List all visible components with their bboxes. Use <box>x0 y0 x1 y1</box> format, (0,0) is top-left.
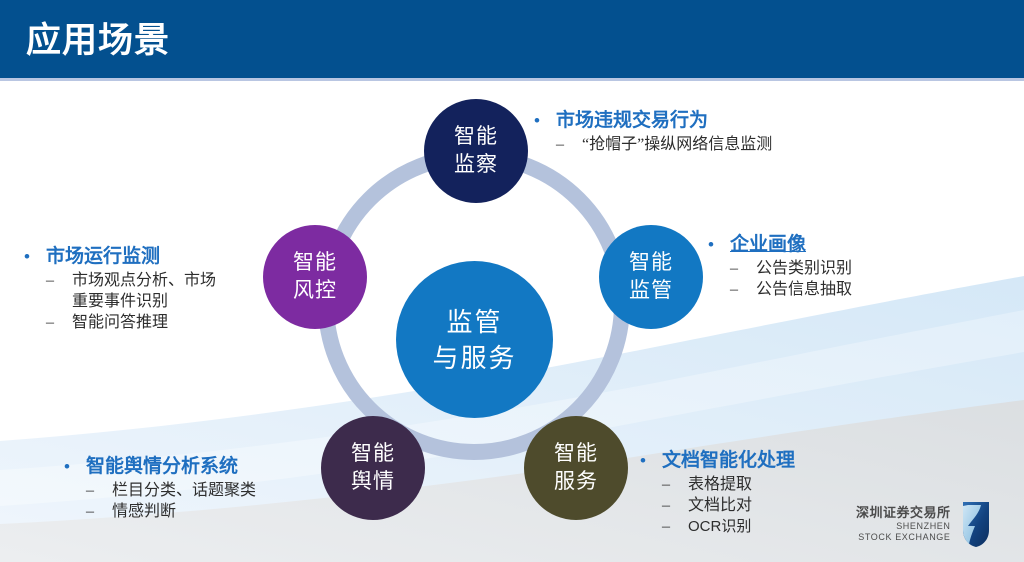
node-right-line-1: 智能 <box>629 249 673 277</box>
dash-icon: – <box>46 270 72 291</box>
callout-sub-list: – 表格提取 – 文档比对 – OCR识别 <box>640 474 795 537</box>
callout-sub-list: – “抢帽子”操纵网络信息监测 <box>534 134 772 155</box>
list-item: – 智能问答推理 <box>46 312 254 333</box>
list-item-text: 公告信息抽取 <box>756 279 852 300</box>
dash-icon: – <box>662 474 688 495</box>
node-bottom-left-line-2: 舆情 <box>351 468 395 496</box>
list-item: – 公告类别识别 <box>730 258 852 279</box>
center-node-line-2: 与服务 <box>432 340 516 376</box>
dash-icon: – <box>556 134 582 155</box>
list-item: – 表格提取 <box>662 474 795 495</box>
callout-heading: • 企业画像 <box>708 233 852 256</box>
list-item-text: 智能问答推理 <box>72 312 222 333</box>
list-item-text: 公告类别识别 <box>756 258 852 279</box>
logo-english-line-2: STOCK EXCHANGE <box>856 532 951 543</box>
list-item: – 公告信息抽取 <box>730 279 852 300</box>
node-intelligent-public-opinion[interactable]: 智能 舆情 <box>321 416 425 520</box>
dash-icon: – <box>662 495 688 516</box>
list-item: – 情感判断 <box>86 501 256 522</box>
node-intelligent-supervision-inspection[interactable]: 智能 监察 <box>424 99 528 203</box>
list-item-text: 市场观点分析、市场重要事件识别 <box>72 270 222 312</box>
logo-chinese-name: 深圳证券交易所 <box>856 505 951 521</box>
list-item: – “抢帽子”操纵网络信息监测 <box>556 134 772 155</box>
node-top-line-2: 监察 <box>454 151 498 179</box>
logo-text-block: 深圳证券交易所 SHENZHEN STOCK EXCHANGE <box>856 505 951 543</box>
node-top-line-1: 智能 <box>454 123 498 151</box>
list-item: – 文档比对 <box>662 495 795 516</box>
callout-sub-list: – 栏目分类、话题聚类 – 情感判断 <box>64 480 256 522</box>
list-item: – 市场观点分析、市场重要事件识别 <box>46 270 254 312</box>
callout-title: 市场运行监测 <box>46 245 160 268</box>
bullet-icon: • <box>64 455 86 478</box>
callout-sub-list: – 公告类别识别 – 公告信息抽取 <box>708 258 852 300</box>
bullet-icon: • <box>534 109 556 132</box>
dash-icon: – <box>662 516 688 537</box>
dash-icon: – <box>730 279 756 300</box>
center-node-line-1: 监管 <box>446 304 502 340</box>
bullet-icon: • <box>640 449 662 472</box>
dash-icon: – <box>86 480 112 501</box>
callout-heading: • 文档智能化处理 <box>640 449 795 472</box>
callout-heading: • 智能舆情分析系统 <box>64 455 256 478</box>
bullet-icon: • <box>24 245 46 268</box>
node-intelligent-risk-control[interactable]: 智能 风控 <box>263 225 367 329</box>
list-item: – 栏目分类、话题聚类 <box>86 480 256 501</box>
callout-title: 智能舆情分析系统 <box>86 455 238 478</box>
node-intelligent-service[interactable]: 智能 服务 <box>524 416 628 520</box>
shenzhen-stock-exchange-logo: 深圳证券交易所 SHENZHEN STOCK EXCHANGE <box>856 500 993 548</box>
callout-market-operation-monitoring: • 市场运行监测 – 市场观点分析、市场重要事件识别 – 智能问答推理 <box>24 245 254 333</box>
slide-canvas: 应用场景 监管 与服务 智能 监察 智能 监管 智能 风控 智能 舆情 智能 服… <box>0 0 1024 562</box>
callout-sub-list: – 市场观点分析、市场重要事件识别 – 智能问答推理 <box>24 270 254 333</box>
list-item-text: 表格提取 <box>688 474 752 495</box>
node-intelligent-regulation[interactable]: 智能 监管 <box>599 225 703 329</box>
bullet-icon: • <box>708 233 730 256</box>
list-item-text: 栏目分类、话题聚类 <box>112 480 256 501</box>
shield-mark-icon <box>959 500 993 548</box>
node-right-line-2: 监管 <box>629 277 673 305</box>
callout-public-opinion-analysis-system: • 智能舆情分析系统 – 栏目分类、话题聚类 – 情感判断 <box>64 455 256 522</box>
callout-document-intelligent-processing: • 文档智能化处理 – 表格提取 – 文档比对 – OCR识别 <box>640 449 795 537</box>
list-item-text: “抢帽子”操纵网络信息监测 <box>582 134 772 155</box>
center-node-regulation-service[interactable]: 监管 与服务 <box>396 261 553 418</box>
callout-title: 市场违规交易行为 <box>556 109 708 132</box>
dash-icon: – <box>730 258 756 279</box>
node-bottom-right-line-1: 智能 <box>554 440 598 468</box>
callout-heading: • 市场违规交易行为 <box>534 109 772 132</box>
dash-icon: – <box>86 501 112 522</box>
list-item-text: 情感判断 <box>112 501 176 522</box>
callout-enterprise-profile: • 企业画像 – 公告类别识别 – 公告信息抽取 <box>708 233 852 300</box>
logo-english-line-1: SHENZHEN <box>856 521 951 532</box>
page-title: 应用场景 <box>26 20 170 62</box>
node-left-line-1: 智能 <box>293 249 337 277</box>
node-left-line-2: 风控 <box>293 277 337 305</box>
callout-title: 企业画像 <box>730 233 806 256</box>
dash-icon: – <box>46 312 72 333</box>
node-bottom-left-line-1: 智能 <box>351 440 395 468</box>
header-divider <box>0 78 1024 81</box>
callout-market-violation-trading: • 市场违规交易行为 – “抢帽子”操纵网络信息监测 <box>534 109 772 155</box>
list-item: – OCR识别 <box>662 516 795 537</box>
callout-heading: • 市场运行监测 <box>24 245 254 268</box>
list-item-text: 文档比对 <box>688 495 752 516</box>
callout-title: 文档智能化处理 <box>662 449 795 472</box>
node-bottom-right-line-2: 服务 <box>554 468 598 496</box>
list-item-text: OCR识别 <box>688 516 751 537</box>
